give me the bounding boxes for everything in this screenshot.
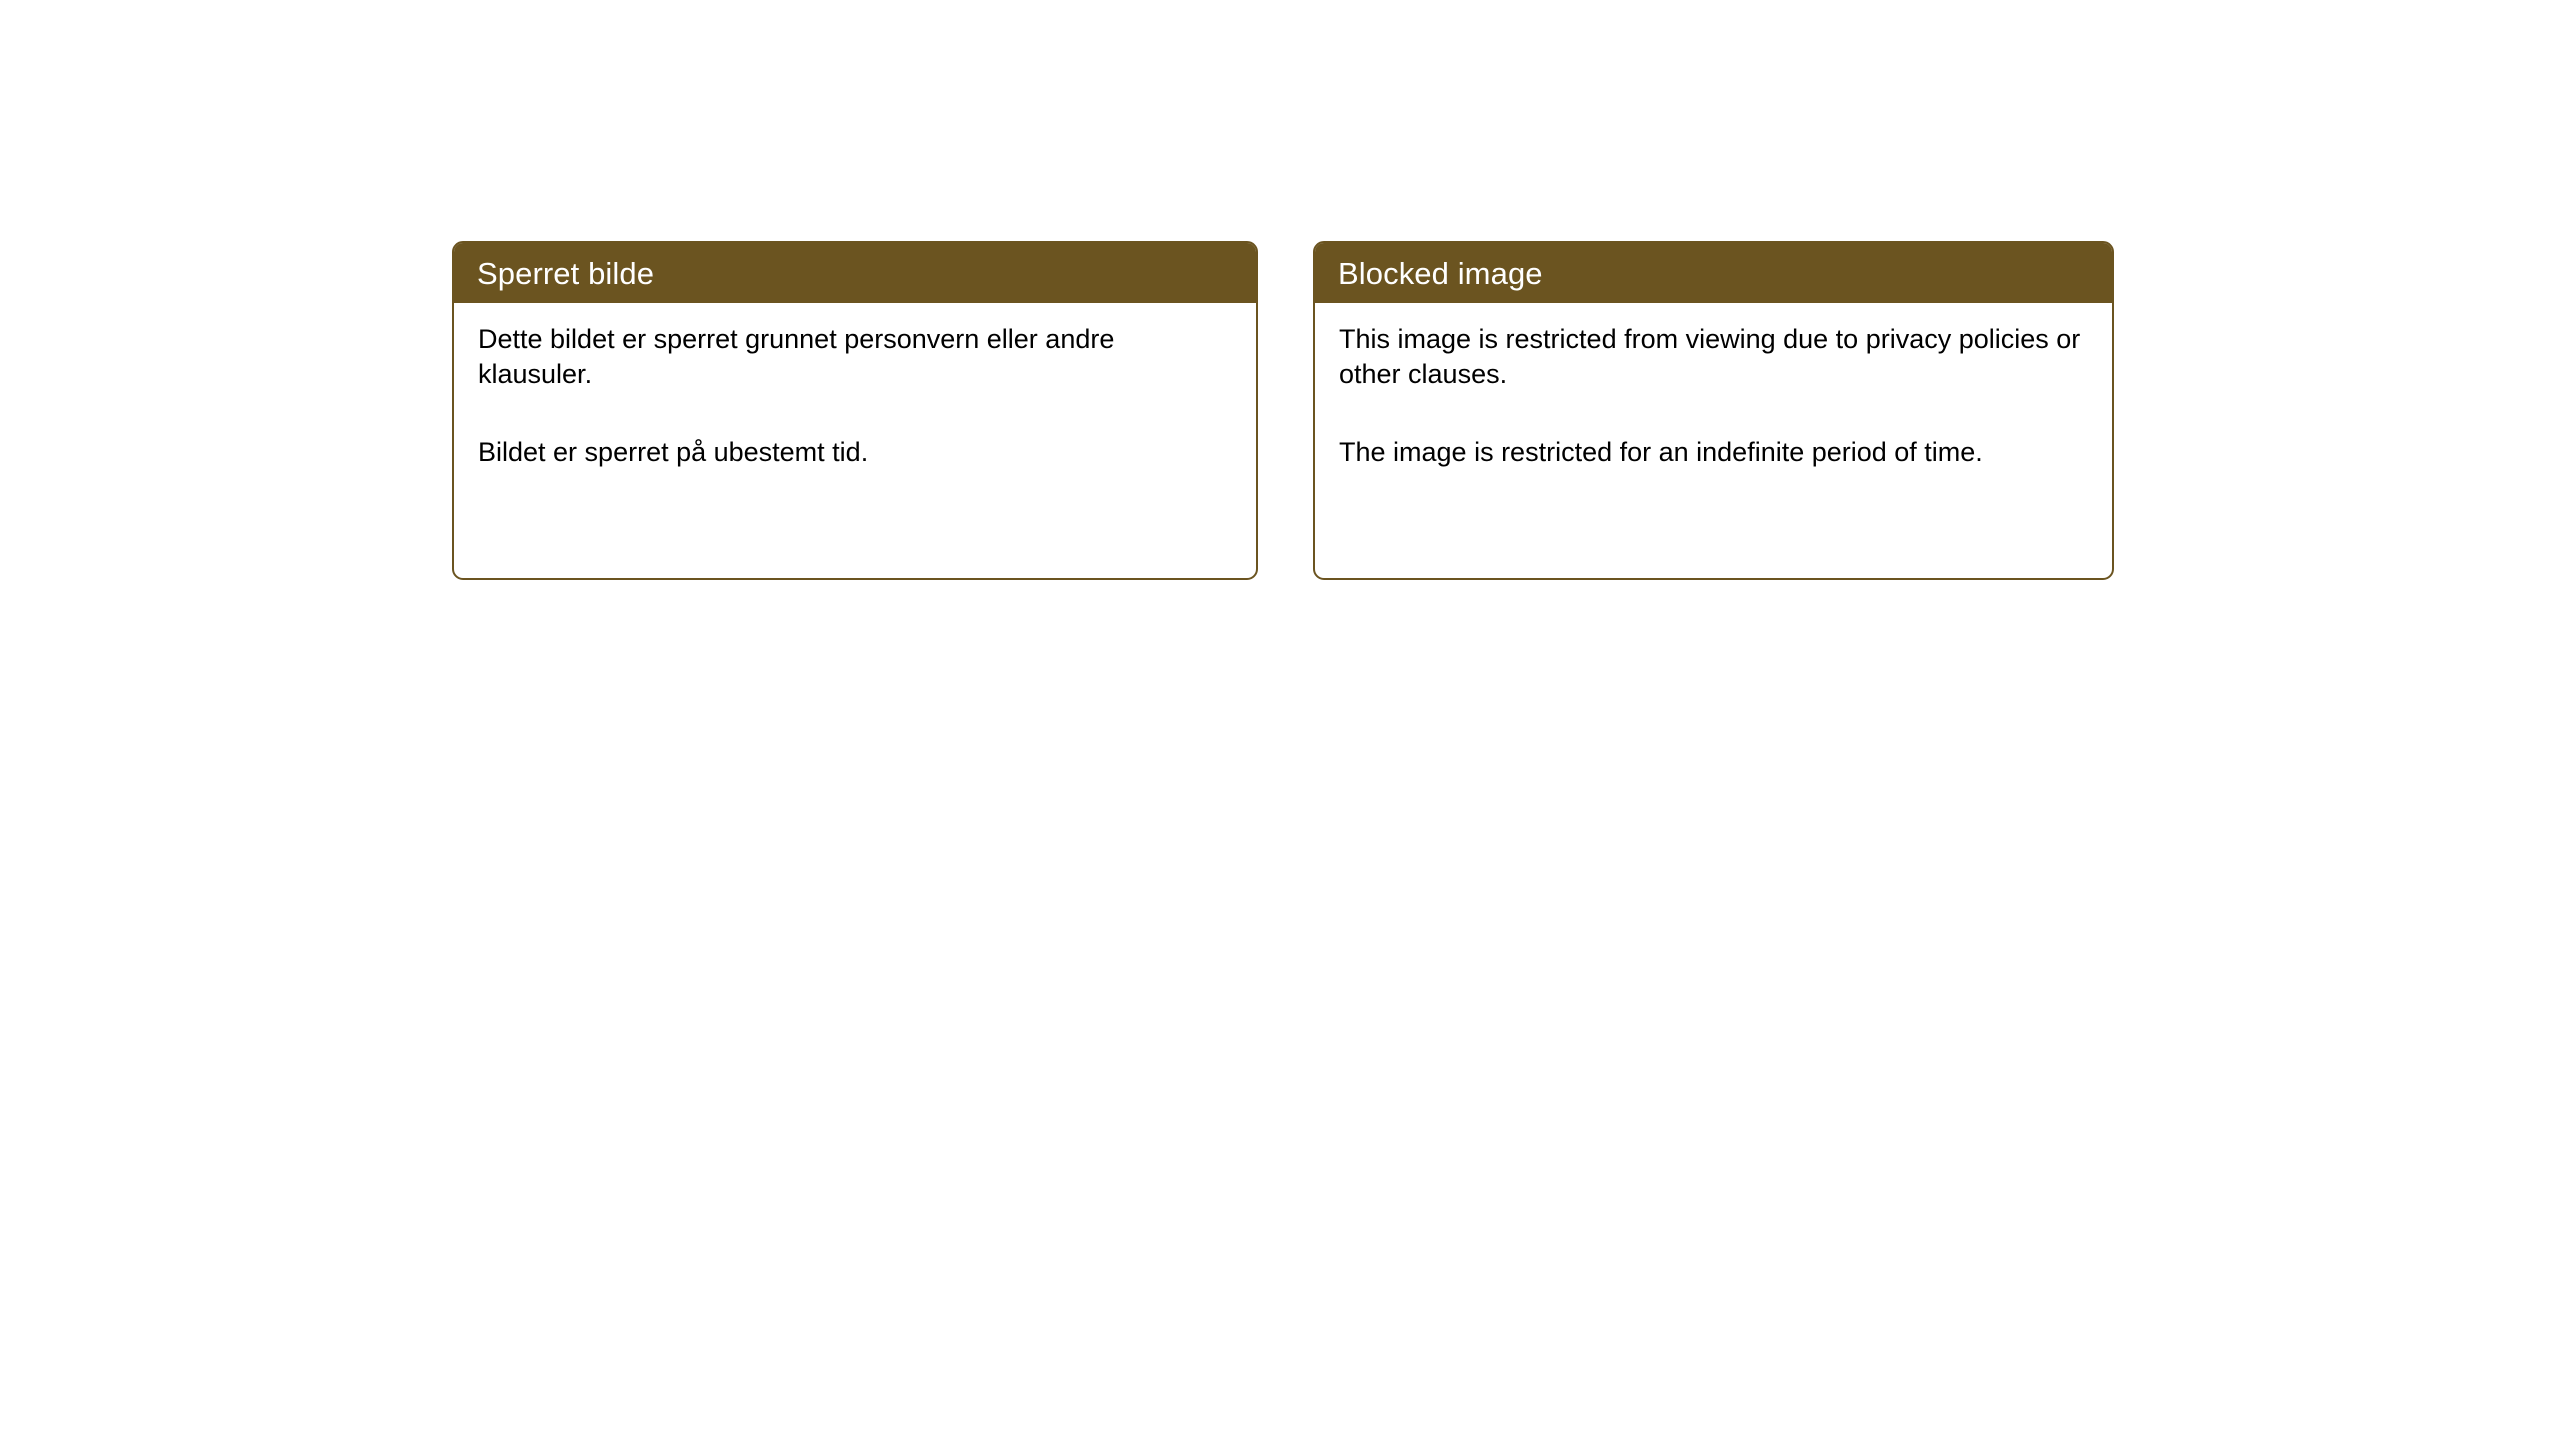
card-body-english: This image is restricted from viewing du… bbox=[1315, 303, 2112, 470]
blocked-image-notice-card-english: Blocked image This image is restricted f… bbox=[1313, 241, 2114, 580]
page-canvas: Sperret bilde Dette bildet er sperret gr… bbox=[0, 0, 2560, 1440]
card-body-norwegian: Dette bildet er sperret grunnet personve… bbox=[454, 303, 1256, 470]
card-title-norwegian: Sperret bilde bbox=[477, 258, 654, 289]
card-header-norwegian: Sperret bilde bbox=[454, 243, 1256, 303]
card-header-english: Blocked image bbox=[1315, 243, 2112, 303]
blocked-image-notice-card-norwegian: Sperret bilde Dette bildet er sperret gr… bbox=[452, 241, 1258, 580]
card-paragraph-duration-english: The image is restricted for an indefinit… bbox=[1339, 435, 2088, 470]
card-paragraph-duration-norwegian: Bildet er sperret på ubestemt tid. bbox=[478, 435, 1232, 470]
card-title-english: Blocked image bbox=[1338, 258, 1543, 289]
card-paragraph-reason-english: This image is restricted from viewing du… bbox=[1339, 322, 2088, 392]
card-paragraph-reason-norwegian: Dette bildet er sperret grunnet personve… bbox=[478, 322, 1232, 392]
